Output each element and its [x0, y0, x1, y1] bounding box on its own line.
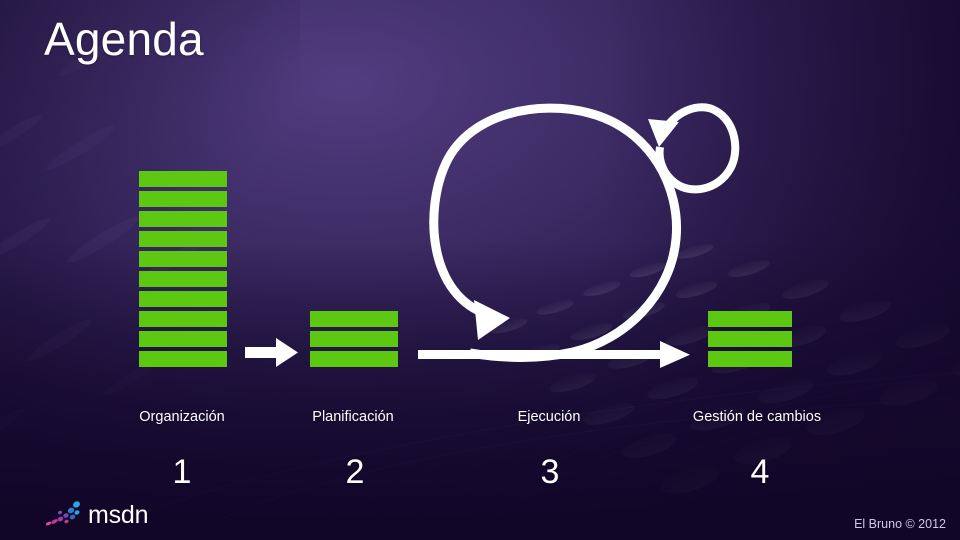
stack-bar	[139, 211, 227, 227]
msdn-wordmark: msdn	[88, 503, 148, 528]
stack-bar	[310, 331, 398, 347]
stack-bar	[139, 251, 227, 267]
stack-bar	[139, 231, 227, 247]
stack-bar	[139, 311, 227, 327]
iteration-loop-large-arrowhead-icon	[474, 300, 510, 340]
stack-bar	[139, 271, 227, 287]
stack-organizacion	[139, 171, 227, 367]
step-label-3: Ejecución	[518, 409, 581, 425]
step-label-2: Planificación	[312, 409, 393, 425]
stack-planificacion	[310, 311, 398, 367]
stack-bar	[139, 291, 227, 307]
stack-gestion-de-cambios	[708, 311, 792, 367]
iteration-loop-small-arrowhead-icon	[648, 119, 679, 147]
step-label-4: Gestión de cambios	[693, 409, 821, 425]
arrow-step1-to-step2-icon	[245, 338, 298, 367]
arrow-step3-timeline-icon	[418, 341, 690, 368]
stack-bar	[708, 311, 792, 327]
msdn-logo: msdn	[46, 498, 148, 528]
slide-canvas: Agenda	[0, 0, 960, 540]
stack-bar	[139, 191, 227, 207]
iteration-loop-large-icon	[434, 108, 677, 357]
stack-bar	[310, 351, 398, 367]
stack-bar	[708, 351, 792, 367]
credit-text: El Bruno © 2012	[854, 517, 946, 531]
stack-bar	[310, 311, 398, 327]
step-number-3: 3	[541, 453, 560, 492]
stack-bar	[139, 171, 227, 187]
msdn-swoosh-icon	[46, 498, 86, 528]
stack-bar	[139, 331, 227, 347]
stack-bar	[708, 331, 792, 347]
step-number-4: 4	[751, 453, 770, 492]
process-flow-diagram: Organización Planificación Ejecución Ges…	[0, 0, 960, 540]
iteration-loop-small-icon	[660, 107, 736, 189]
stack-bar	[139, 351, 227, 367]
step-number-1: 1	[173, 453, 192, 492]
step-label-1: Organización	[139, 409, 224, 425]
step-number-2: 2	[346, 453, 365, 492]
